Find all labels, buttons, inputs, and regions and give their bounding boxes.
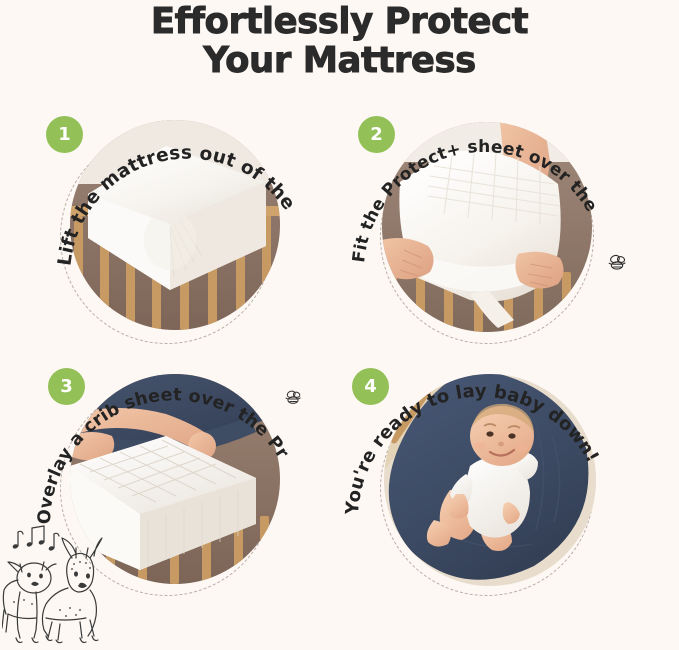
step-2: 2 Fit the Protect+ sheet over the mattre… (340, 100, 660, 350)
fawns-with-music-notes-illustration (2, 518, 114, 646)
title-line-1: Effortlessly Protect (0, 4, 679, 41)
step-1-photo (70, 120, 280, 330)
step-4-number: 4 (364, 378, 377, 396)
step-3-badge: 3 (48, 368, 85, 405)
step-2-badge: 2 (358, 116, 395, 153)
music-note-icon (48, 533, 59, 551)
step-1-number: 1 (58, 126, 71, 144)
bee-icon (283, 388, 303, 406)
step-2-number: 2 (370, 126, 383, 144)
bee-icon (606, 252, 628, 272)
step-4-badge: 4 (352, 368, 389, 405)
infographic-root: Effortlessly Protect Your Mattress (0, 0, 679, 650)
step-1-badge: 1 (46, 116, 83, 153)
title-line-2: Your Mattress (0, 43, 679, 80)
step-3-number: 3 (60, 378, 73, 396)
step-4: 4 You're ready to lay baby down! (340, 352, 660, 602)
step-1: 1 Lift the mattress out of the crib (22, 100, 342, 350)
step-4-photo (384, 374, 596, 586)
music-note-icon (12, 531, 23, 549)
music-note-icon (26, 526, 45, 547)
page-title: Effortlessly Protect Your Mattress (0, 4, 679, 80)
fawn-large (42, 538, 102, 643)
step-2-photo (382, 122, 592, 332)
